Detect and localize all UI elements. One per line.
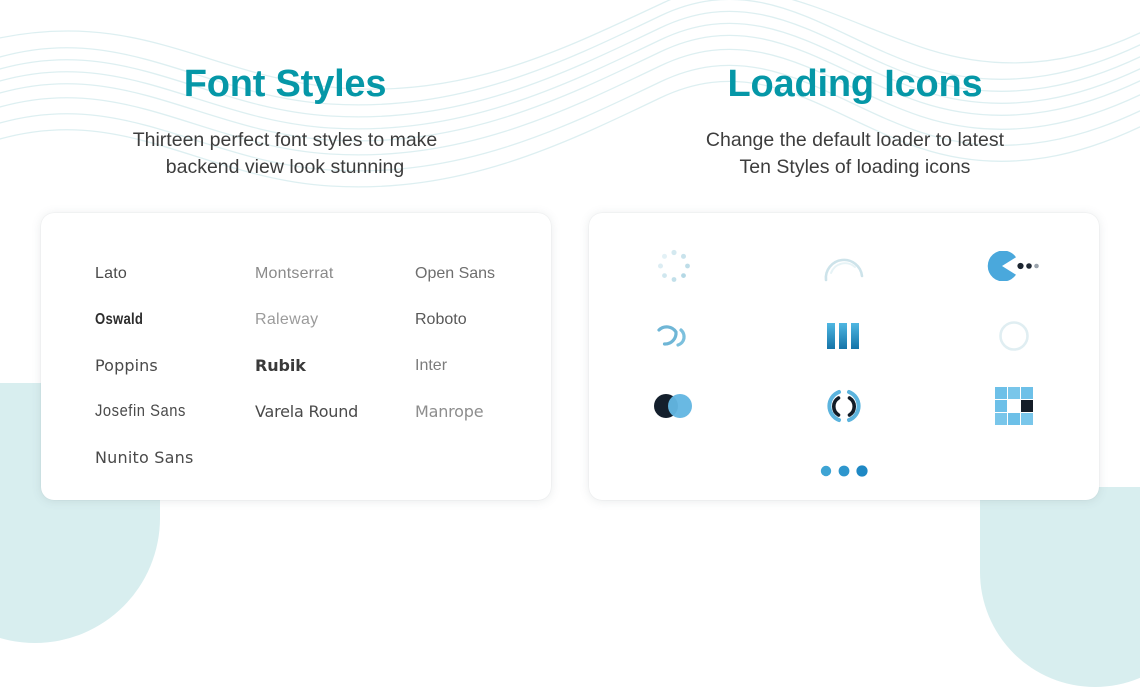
font-item-rubik[interactable]: Rubik xyxy=(255,356,415,375)
grid-blocks-loader-icon xyxy=(995,387,1033,425)
font-item-oswald[interactable]: Oswald xyxy=(95,311,226,329)
pacman-loader-icon xyxy=(987,251,1041,281)
font-styles-title: Font Styles xyxy=(0,0,570,107)
font-styles-subtitle: Thirteen perfect font styles to make bac… xyxy=(0,107,570,181)
font-item-raleway[interactable]: Raleway xyxy=(255,311,415,329)
two-circles-loader-icon xyxy=(650,390,698,422)
loader-cell-4[interactable] xyxy=(644,306,704,366)
loading-icons-subtitle: Change the default loader to latest Ten … xyxy=(570,107,1140,181)
panel-font-styles: Font Styles Thirteen perfect font styles… xyxy=(0,0,570,500)
font-item-manrope[interactable]: Manrope xyxy=(415,402,575,421)
loader-cell-7[interactable] xyxy=(644,376,704,436)
panels-container: Font Styles Thirteen perfect font styles… xyxy=(0,0,1140,500)
loader-cell-2[interactable] xyxy=(814,236,874,296)
font-list: Lato Montserrat Open Sans Oswald Raleway… xyxy=(41,251,551,481)
loader-icon-grid xyxy=(589,231,1099,441)
facing-arcs-icon xyxy=(824,386,864,426)
font-item-lato[interactable]: Lato xyxy=(95,265,255,283)
loader-cell-9[interactable] xyxy=(984,376,1044,436)
loader-cell-8[interactable] xyxy=(814,376,874,436)
loader-cell-6[interactable] xyxy=(984,306,1044,366)
loader-cell-3[interactable] xyxy=(984,236,1044,296)
font-item-roboto[interactable]: Roboto xyxy=(415,311,575,329)
font-styles-card: Lato Montserrat Open Sans Oswald Raleway… xyxy=(41,213,551,500)
three-bars-loader-icon xyxy=(824,319,864,353)
font-item-inter[interactable]: Inter xyxy=(415,357,575,375)
font-item-varela-round[interactable]: Varela Round xyxy=(255,402,415,421)
font-item-montserrat[interactable]: Montserrat xyxy=(255,265,415,283)
spinner-top-arc-icon xyxy=(822,249,866,283)
loader-cell-5[interactable] xyxy=(814,306,874,366)
font-item-josefin-sans[interactable]: Josefin Sans xyxy=(95,402,242,421)
loading-icons-title: Loading Icons xyxy=(570,0,1140,107)
panel-loading-icons: Loading Icons Change the default loader … xyxy=(570,0,1140,500)
font-item-nunito-sans[interactable]: Nunito Sans xyxy=(95,448,255,467)
dual-arc-spinner-icon xyxy=(652,319,696,353)
spinner-dots-ring-icon xyxy=(656,248,692,284)
ring-outline-icon xyxy=(997,319,1031,353)
font-item-open-sans[interactable]: Open Sans xyxy=(415,265,575,283)
three-dots-loader-icon xyxy=(819,463,869,479)
loader-cell-10[interactable] xyxy=(814,441,874,501)
loading-icons-card xyxy=(589,213,1099,500)
bottom-right-blob-decoration xyxy=(980,487,1140,687)
loader-last-row xyxy=(589,441,1099,501)
loader-cell-1[interactable] xyxy=(644,236,704,296)
font-item-poppins[interactable]: Poppins xyxy=(95,356,255,375)
